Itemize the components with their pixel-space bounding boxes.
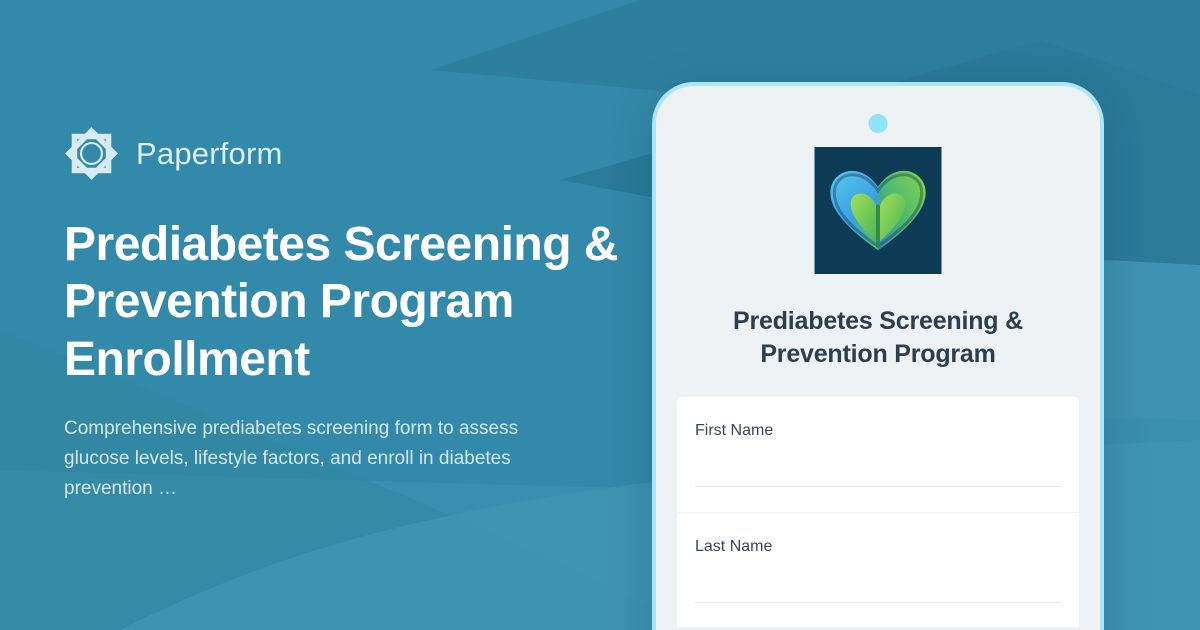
field-underline (695, 602, 1061, 603)
field-underline (695, 486, 1061, 487)
field-label: First Name (695, 421, 1061, 440)
phone-mockup: Prediabetes Screening & Prevention Progr… (652, 82, 1104, 630)
hero-panel: Paperform Prediabetes Screening & Preven… (64, 0, 664, 630)
page-title: Prediabetes Screening & Prevention Progr… (64, 216, 624, 389)
form-field-list: First Name Last Name (677, 397, 1079, 630)
form-title: Prediabetes Screening & Prevention Progr… (656, 305, 1100, 370)
brand-name: Paperform (136, 138, 283, 169)
field-label: Last Name (695, 537, 1061, 556)
camera-dot-icon (869, 114, 888, 133)
brand-lockup: Paperform (64, 126, 664, 181)
form-field-last-name[interactable]: Last Name (677, 512, 1079, 627)
paperform-star-logo-icon (64, 126, 119, 181)
og-card: Paperform Prediabetes Screening & Preven… (0, 0, 1200, 630)
form-field-first-name[interactable]: First Name (677, 397, 1079, 512)
page-description: Comprehensive prediabetes screening form… (64, 414, 564, 504)
heart-leaf-logo-icon (815, 146, 942, 275)
